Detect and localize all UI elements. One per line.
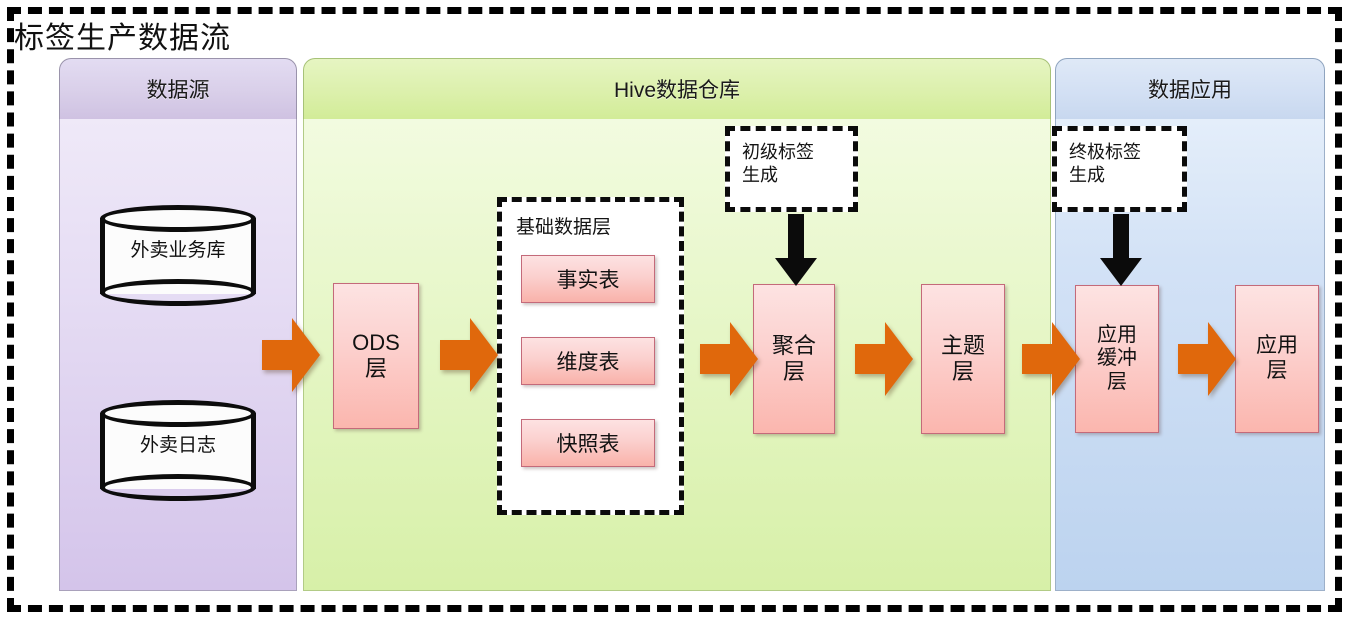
- database-cylinder-log[interactable]: 外卖日志: [100, 400, 256, 502]
- table-box-dimension[interactable]: 维度表: [521, 337, 655, 385]
- cylinder-top-ellipse: [100, 205, 256, 232]
- column-header-data-application: 数据应用: [1055, 58, 1325, 120]
- layer-label-application-line2: 层: [1256, 359, 1298, 384]
- arrow-down-final-tag: [1100, 214, 1142, 286]
- arrow-right-topic-to-app-buffer: [1022, 322, 1080, 396]
- note-primary-line2: 生成: [742, 164, 853, 187]
- layer-label-aggregate-line2: 层: [772, 359, 816, 385]
- arrow-right-ods-to-base: [440, 318, 498, 392]
- layer-label-app-buffer-line2: 缓冲: [1097, 347, 1137, 371]
- cylinder-bottom-ellipse: [100, 474, 256, 501]
- layer-box-ods[interactable]: ODS 层: [333, 283, 419, 429]
- arrow-right-source-to-ods: [262, 318, 320, 392]
- note-final-tag-generation: 终极标签 生成: [1052, 126, 1187, 212]
- column-header-data-source: 数据源: [59, 58, 297, 120]
- arrow-right-app-buffer-to-application: [1178, 322, 1236, 396]
- layer-label-ods-line2: 层: [352, 356, 400, 382]
- layer-box-aggregate[interactable]: 聚合 层: [753, 284, 835, 434]
- column-header-hive: Hive数据仓库: [303, 58, 1051, 120]
- diagram-canvas: 标签生产数据流 数据源 外卖业务库 外卖日志 Hive数据仓库 数据应用 基础数…: [0, 0, 1357, 627]
- layer-label-topic-line1: 主题: [941, 333, 985, 359]
- database-cylinder-business[interactable]: 外卖业务库: [100, 205, 256, 307]
- layer-box-app-buffer[interactable]: 应用 缓冲 层: [1075, 285, 1159, 433]
- layer-label-app-buffer-line3: 层: [1097, 371, 1137, 395]
- arrow-right-base-to-aggregate: [700, 322, 758, 396]
- note-primary-tag-generation: 初级标签 生成: [725, 126, 858, 212]
- group-label-base-data-layer: 基础数据层: [516, 212, 611, 239]
- layer-label-aggregate-line1: 聚合: [772, 333, 816, 359]
- arrow-right-aggregate-to-topic: [855, 322, 913, 396]
- cylinder-top-ellipse: [100, 400, 256, 427]
- arrow-down-primary-tag: [775, 214, 817, 286]
- note-final-line1: 终极标签: [1069, 141, 1182, 164]
- layer-label-app-buffer-line1: 应用: [1097, 324, 1137, 348]
- database-label-business: 外卖业务库: [100, 235, 256, 262]
- table-box-fact[interactable]: 事实表: [521, 255, 655, 303]
- layer-label-topic-line2: 层: [941, 359, 985, 385]
- note-primary-line1: 初级标签: [742, 141, 853, 164]
- table-box-snapshot[interactable]: 快照表: [521, 419, 655, 467]
- layer-label-ods-line1: ODS: [352, 330, 400, 356]
- cylinder-bottom-ellipse: [100, 279, 256, 306]
- layer-box-topic[interactable]: 主题 层: [921, 284, 1005, 434]
- layer-box-application[interactable]: 应用 层: [1235, 285, 1319, 433]
- note-final-line2: 生成: [1069, 164, 1182, 187]
- layer-label-application-line1: 应用: [1256, 334, 1298, 359]
- database-label-log: 外卖日志: [100, 430, 256, 457]
- page-title: 标签生产数据流: [14, 13, 231, 57]
